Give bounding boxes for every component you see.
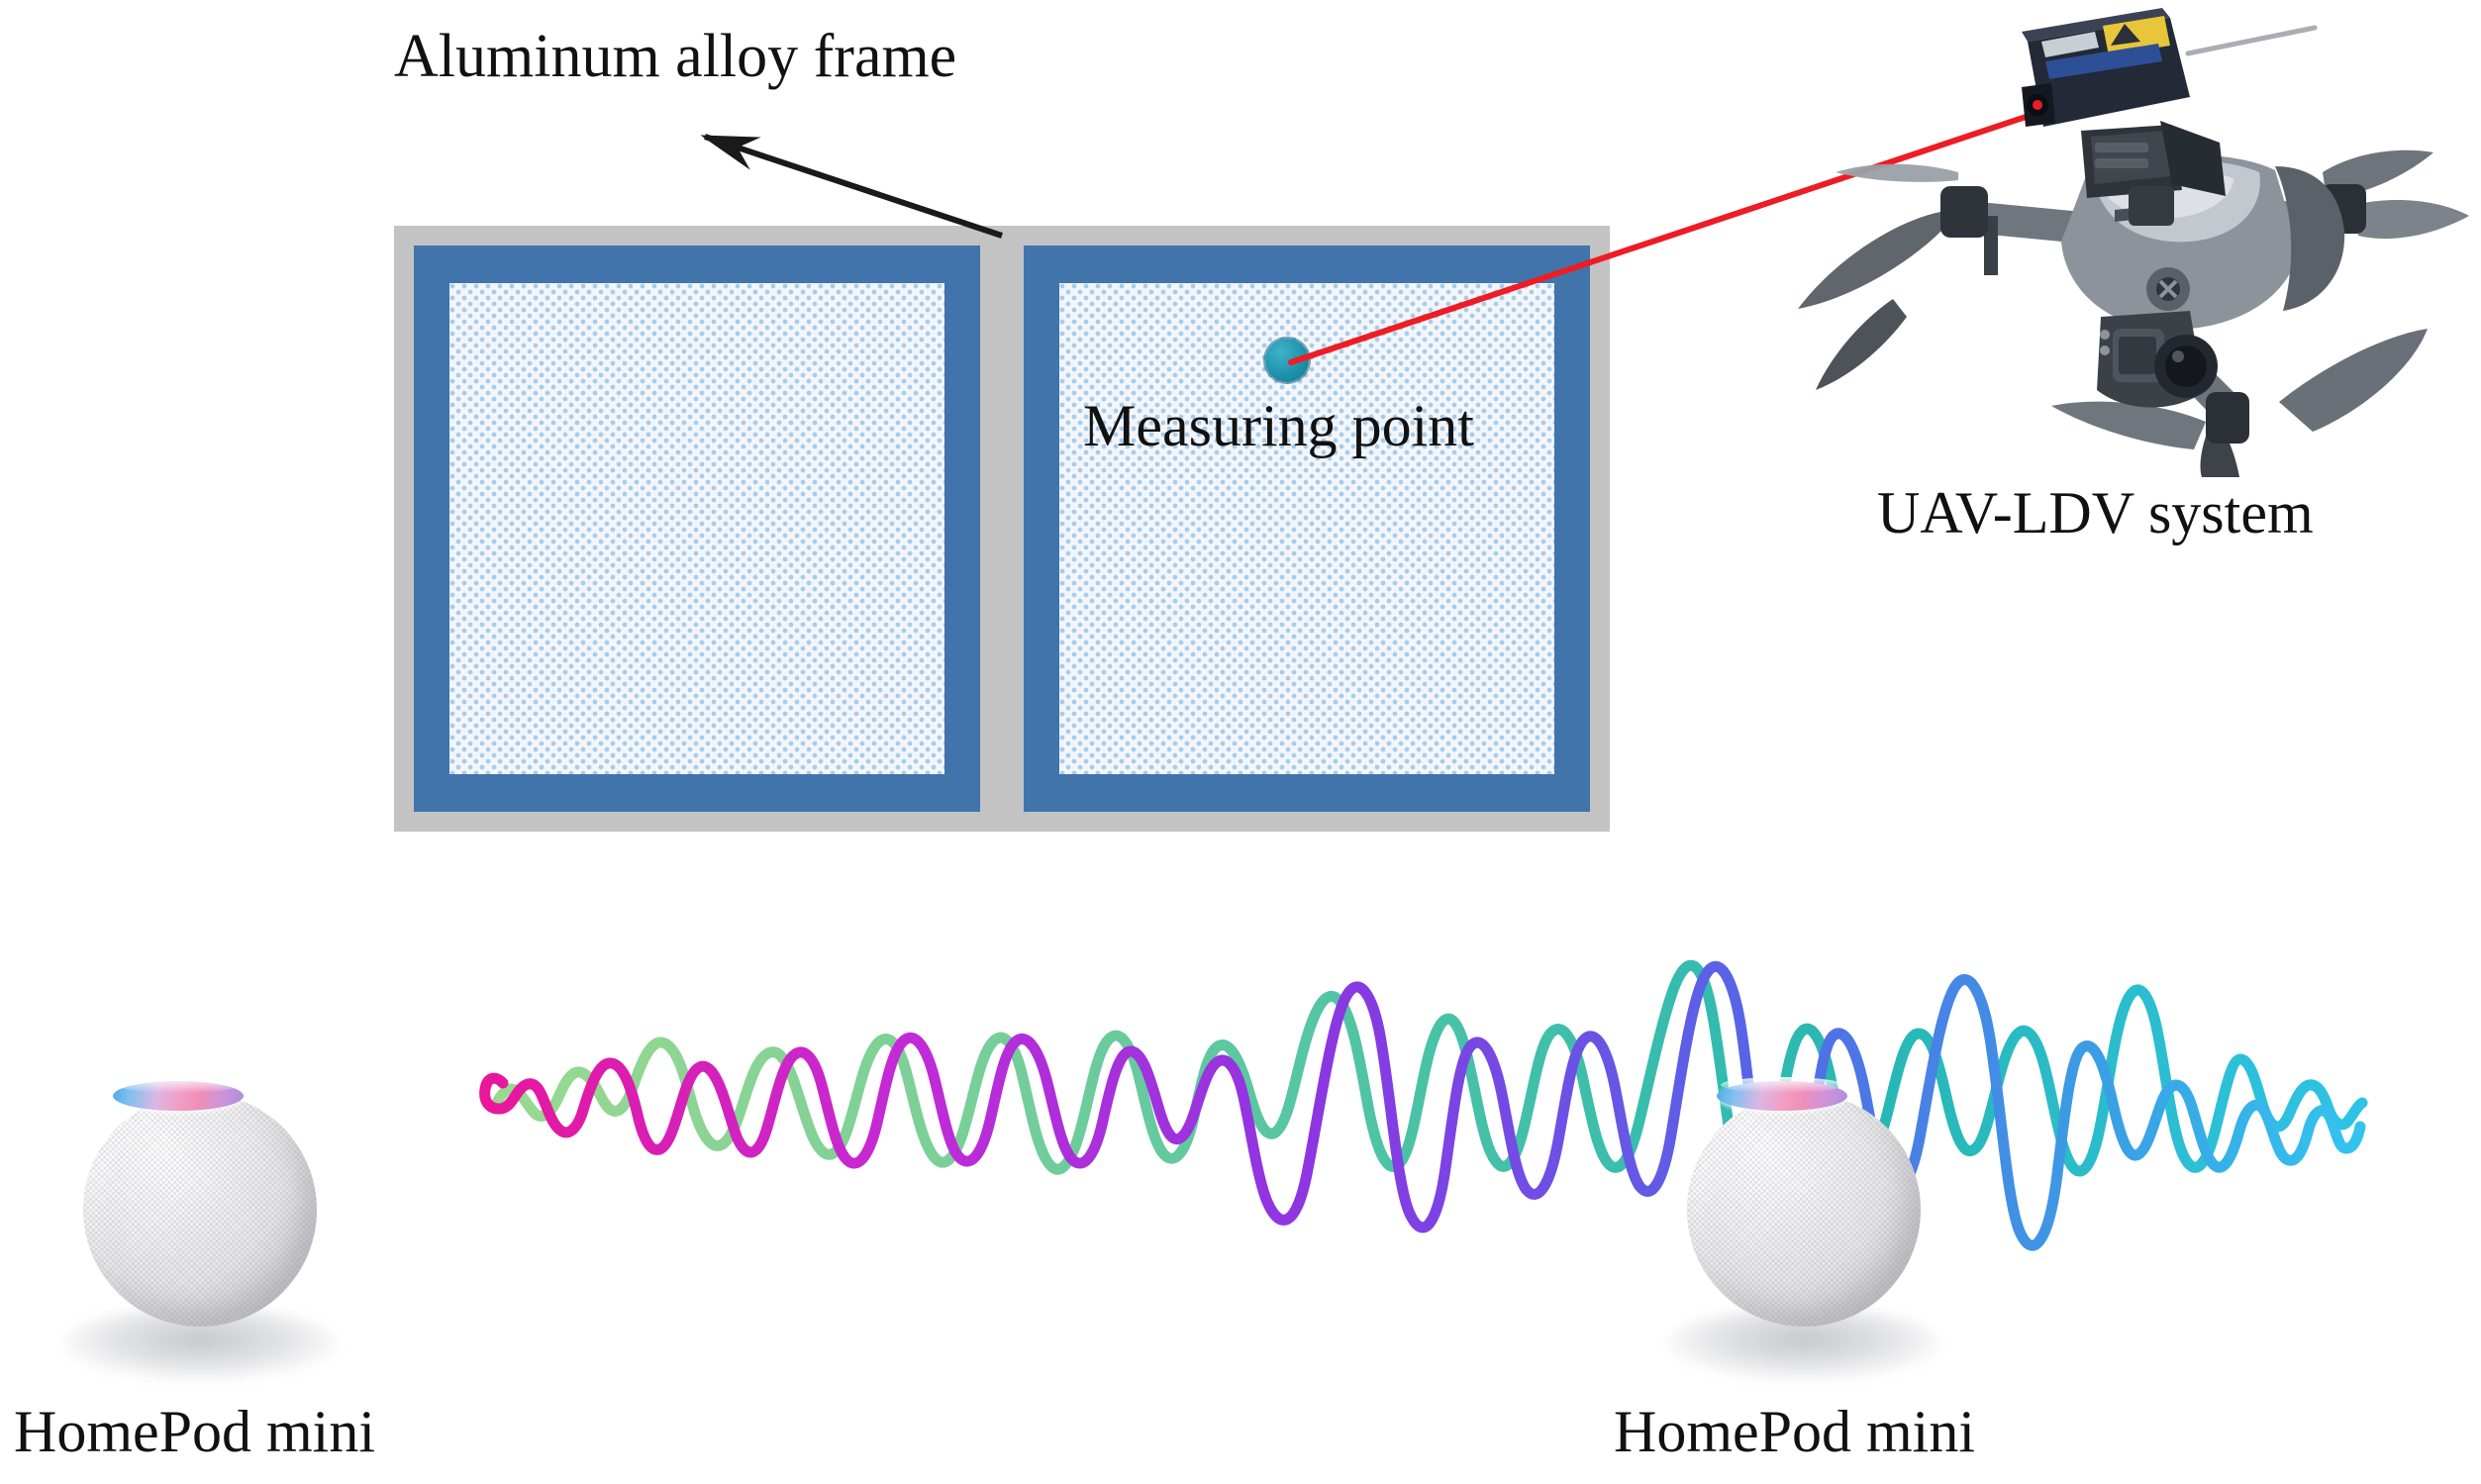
measuring-point-label: Measuring point [1083,396,1474,455]
glass-panel-right [1024,246,1590,812]
glass-panel-left [414,246,980,812]
waveform-trace-purple [485,966,2360,1245]
homepod-mini-right [1665,1075,1942,1382]
glass-fill-left [449,283,944,774]
aluminum-alloy-frame [394,226,1610,832]
homepod-mesh-left [83,1093,317,1327]
homepod-mini-left [61,1075,339,1382]
measuring-point-marker [1265,339,1309,382]
uav-ldv-system-label: UAV-LDV system [1877,483,2314,543]
homepod-body-left [83,1093,317,1327]
uav-ldv-drone [1725,2,2481,477]
aluminum-frame-pointer-arrow [705,137,1002,236]
homepod-body-right [1687,1093,1921,1327]
waveform-trace-green [495,965,2362,1197]
homepod-top-gloss-right [1721,1077,1843,1093]
aluminum-frame-label: Aluminum alloy frame [394,26,956,87]
ldv-laser-module [2022,8,2315,127]
homepod-mini-right-label: HomePod mini [1614,1402,1975,1461]
figure-canvas: Aluminum alloy frame Measuring point [0,0,2481,1484]
homepod-mesh-right [1687,1093,1921,1327]
homepod-mini-left-label: HomePod mini [14,1402,375,1461]
propeller-rear-left [1798,164,1958,390]
homepod-top-gloss-left [117,1077,240,1093]
